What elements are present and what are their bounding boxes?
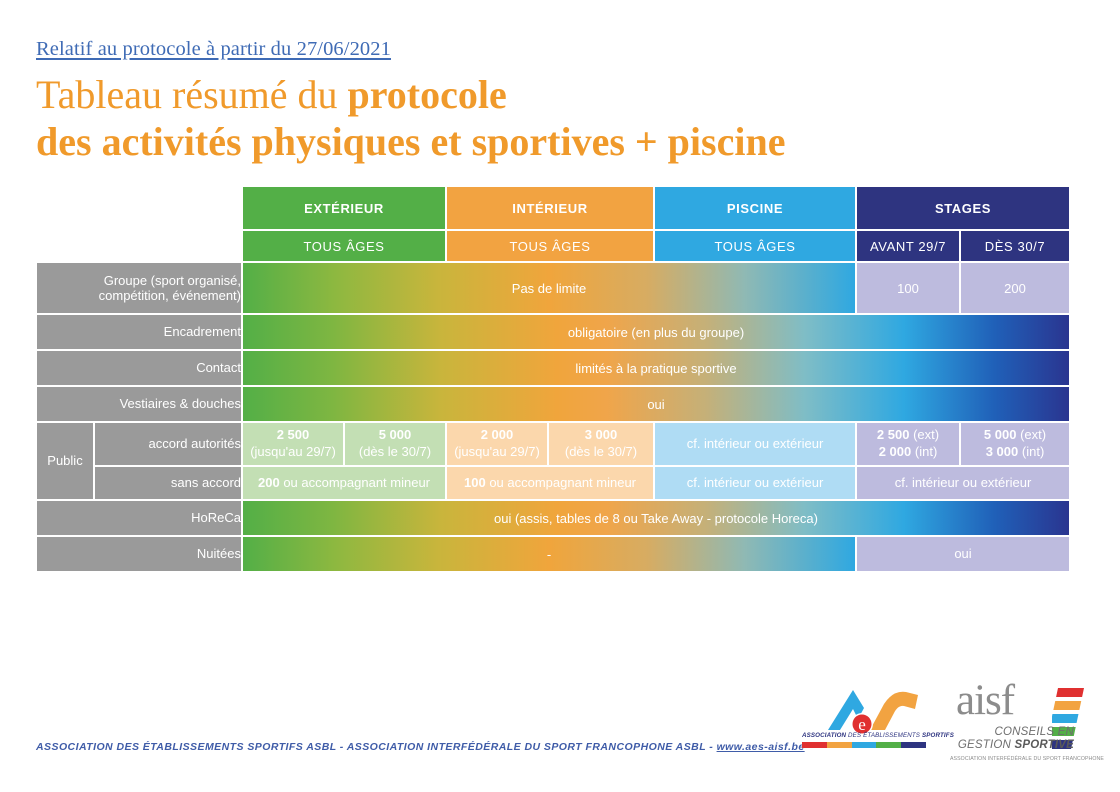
aes-tagline-bold1: ASSOCIATION [802, 732, 846, 739]
table-row-nuitees: Nuitées - oui [36, 536, 1070, 572]
table-header-row-1: EXTÉRIEUR INTÉRIEUR PISCINE STAGES [36, 186, 1070, 230]
cell-accord-stages-des-int-note: (int) [1022, 444, 1044, 459]
cell-accord-exterieur-a: 2 500 (jusqu'au 29/7) [242, 422, 344, 466]
table-row-contact: Contact limités à la pratique sportive [36, 350, 1070, 386]
cell-contact-value: limités à la pratique sportive [242, 350, 1070, 386]
header-subtitle: Relatif au protocole à partir du 27/06/2… [36, 38, 1086, 61]
subheader-interieur-tous-ages: TOUS ÂGES [446, 230, 654, 262]
aisf-stroke-blue [1052, 714, 1078, 723]
cell-accord-piscine: cf. intérieur ou extérieur [654, 422, 856, 466]
cell-accord-stages-avant-ext-note: (ext) [913, 427, 939, 442]
cell-accord-stages-avant-int-note: (int) [915, 444, 937, 459]
aisf-stroke-red [1056, 688, 1084, 697]
cell-sans-accord-int-number: 100 [464, 475, 486, 490]
page-title-bold: protocole [348, 72, 507, 117]
cell-accord-stages-avant: 2 500 (ext) 2 000 (int) [856, 422, 960, 466]
aes-bar-orange [827, 742, 852, 748]
cell-sans-accord-interieur: 100 ou accompagnant mineur [446, 466, 654, 500]
table-row-horeca: HoReCa oui (assis, tables de 8 ou Take A… [36, 500, 1070, 536]
footer-logos: e ASSOCIATION DES ÉTABLISSEMENTS SPORTIF… [798, 672, 1098, 772]
table-header-row-2: TOUS ÂGES TOUS ÂGES TOUS ÂGES AVANT 29/7… [36, 230, 1070, 262]
column-header-interieur: INTÉRIEUR [446, 186, 654, 230]
aes-tagline-thin: DES ÉTABLISSEMENTS [846, 732, 922, 739]
aisf-logo: aisf CONSEILS EN GESTION SPORTIVE ASSOCI… [948, 672, 1098, 768]
cell-vestiaires-value: oui [242, 386, 1070, 422]
aisf-wordmark: aisf [956, 676, 1014, 725]
aisf-subtitle-line2-bold: SPORTIVE [1014, 739, 1074, 751]
aisf-subtitle-line1: CONSEILS EN [954, 726, 1074, 739]
cell-accord-stages-avant-int-number: 2 000 [879, 444, 912, 459]
subheader-piscine-tous-ages: TOUS ÂGES [654, 230, 856, 262]
table-row-encadrement: Encadrement obligatoire (en plus du grou… [36, 314, 1070, 350]
cell-accord-ext-b-number: 5 000 [379, 427, 412, 442]
page-title-line1: Tableau résumé du protocole [36, 73, 1086, 118]
subheader-exterieur-tous-ages: TOUS ÂGES [242, 230, 446, 262]
page-title-line2: des activités physiques et sportives + p… [36, 120, 1086, 165]
cell-groupe-stages-des: 200 [960, 262, 1070, 314]
cell-sans-accord-piscine: cf. intérieur ou extérieur [654, 466, 856, 500]
row-label-public: Public [36, 422, 94, 500]
row-label-groupe-line1: Groupe (sport organisé, [37, 273, 241, 288]
cell-sans-accord-ext-note: ou accompagnant mineur [283, 475, 430, 490]
cell-encadrement-value: obligatoire (en plus du groupe) [242, 314, 1070, 350]
aes-bar-blue [852, 742, 877, 748]
subheader-stages-des: DÈS 30/7 [960, 230, 1070, 262]
cell-horeca-value: oui (assis, tables de 8 ou Take Away - p… [242, 500, 1070, 536]
aes-logo-mark: e [798, 682, 928, 734]
table-row-public-sans-accord: sans accord 200 ou accompagnant mineur 1… [36, 466, 1070, 500]
table-row-vestiaires: Vestiaires & douches oui [36, 386, 1070, 422]
cell-groupe-stages-avant: 100 [856, 262, 960, 314]
row-label-vestiaires: Vestiaires & douches [36, 386, 242, 422]
row-label-groupe: Groupe (sport organisé, compétition, évé… [36, 262, 242, 314]
row-label-sans-accord: sans accord [94, 466, 242, 500]
row-label-contact: Contact [36, 350, 242, 386]
aisf-footnote: ASSOCIATION INTERFÉDÉRALE DU SPORT FRANC… [950, 756, 1098, 762]
cell-accord-stages-des-ext-note: (ext) [1020, 427, 1046, 442]
cell-accord-stages-avant-ext-number: 2 500 [877, 427, 910, 442]
cell-accord-stages-des: 5 000 (ext) 3 000 (int) [960, 422, 1070, 466]
cell-accord-ext-a-note: (jusqu'au 29/7) [243, 444, 343, 461]
column-header-piscine: PISCINE [654, 186, 856, 230]
cell-sans-accord-stages: cf. intérieur ou extérieur [856, 466, 1070, 500]
row-label-groupe-line2: compétition, événement) [37, 288, 241, 303]
subheader-corner-spacer [36, 230, 242, 262]
aes-tagline: ASSOCIATION DES ÉTABLISSEMENTS SPORTIFS [802, 732, 926, 739]
cell-accord-int-a-number: 2 000 [481, 427, 514, 442]
column-header-exterieur: EXTÉRIEUR [242, 186, 446, 230]
aes-bar-red [802, 742, 827, 748]
aes-logo: e ASSOCIATION DES ÉTABLISSEMENTS SPORTIF… [798, 682, 928, 760]
cell-accord-stages-des-ext-number: 5 000 [984, 427, 1017, 442]
cell-nuitees-left: - [242, 536, 856, 572]
aisf-subtitle: CONSEILS EN GESTION SPORTIVE [954, 726, 1074, 752]
footer-credits: ASSOCIATION DES ÉTABLISSEMENTS SPORTIFS … [36, 741, 805, 753]
cell-nuitees-stages: oui [856, 536, 1070, 572]
cell-groupe-merged: Pas de limite [242, 262, 856, 314]
cell-accord-ext-a-number: 2 500 [277, 427, 310, 442]
column-header-stages: STAGES [856, 186, 1070, 230]
row-label-encadrement: Encadrement [36, 314, 242, 350]
cell-accord-ext-b-note: (dès le 30/7) [345, 444, 445, 461]
page-header: Relatif au protocole à partir du 27/06/2… [36, 38, 1086, 165]
row-label-accord-autorites: accord autorités [94, 422, 242, 466]
cell-accord-interieur-a: 2 000 (jusqu'au 29/7) [446, 422, 548, 466]
aisf-subtitle-line2-thin: GESTION [958, 739, 1011, 751]
cell-sans-accord-exterieur: 200 ou accompagnant mineur [242, 466, 446, 500]
cell-accord-int-a-note: (jusqu'au 29/7) [447, 444, 547, 461]
cell-accord-int-b-note: (dès le 30/7) [549, 444, 653, 461]
aes-color-bar [802, 742, 926, 748]
cell-accord-interieur-b: 3 000 (dès le 30/7) [548, 422, 654, 466]
table-row-public-accord: Public accord autorités 2 500 (jusqu'au … [36, 422, 1070, 466]
cell-accord-exterieur-b: 5 000 (dès le 30/7) [344, 422, 446, 466]
footer-website-link[interactable]: www.aes-aisf.be [717, 741, 805, 753]
cell-accord-int-b-number: 3 000 [585, 427, 618, 442]
subheader-stages-avant: AVANT 29/7 [856, 230, 960, 262]
aes-bar-navy [901, 742, 926, 748]
row-label-nuitees: Nuitées [36, 536, 242, 572]
row-label-horeca: HoReCa [36, 500, 242, 536]
cell-accord-stages-des-int-number: 3 000 [986, 444, 1019, 459]
header-corner-spacer [36, 186, 242, 230]
aisf-stroke-orange [1053, 701, 1081, 710]
page-title-plain: Tableau résumé du [36, 72, 348, 117]
table-row-groupe: Groupe (sport organisé, compétition, évé… [36, 262, 1070, 314]
protocol-summary-table: EXTÉRIEUR INTÉRIEUR PISCINE STAGES TOUS … [36, 186, 1070, 572]
cell-sans-accord-int-note: ou accompagnant mineur [489, 475, 636, 490]
cell-sans-accord-ext-number: 200 [258, 475, 280, 490]
aes-bar-green [876, 742, 901, 748]
footer-associations-text: ASSOCIATION DES ÉTABLISSEMENTS SPORTIFS … [36, 741, 717, 753]
